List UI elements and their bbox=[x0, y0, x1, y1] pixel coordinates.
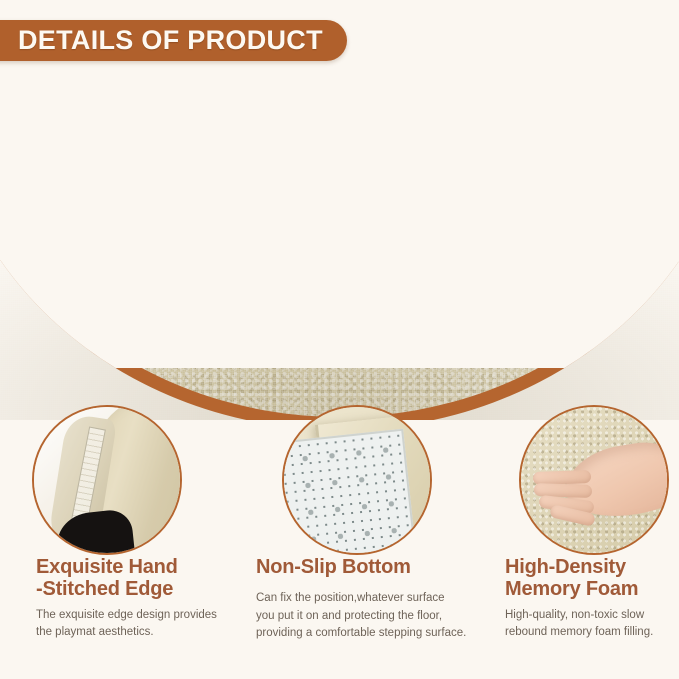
feature-heading-stitched-edge: Exquisite Hand -Stitched Edge bbox=[36, 556, 241, 601]
section-title-banner: DETAILS OF PRODUCT bbox=[0, 20, 347, 61]
body-line-1: Can fix the position,whatever surface bbox=[256, 592, 445, 604]
body-line-2: you put it on and protecting the floor, bbox=[256, 610, 442, 622]
feature-text-columns: Exquisite Hand -Stitched Edge The exquis… bbox=[0, 556, 679, 679]
heading-line-2: Memory Foam bbox=[505, 578, 638, 600]
feature-body-memory-foam: High-quality, non-toxic slow rebound mem… bbox=[505, 607, 679, 642]
hero-product-image bbox=[0, 0, 679, 420]
anti-slip-dots-icon bbox=[282, 431, 416, 555]
body-line-3: providing a comfortable stepping surface… bbox=[256, 627, 466, 639]
feature-body-stitched-edge: The exquisite edge design provides the p… bbox=[36, 607, 241, 642]
non-slip-bottom-icon bbox=[284, 407, 430, 553]
heading-line-2: -Stitched Edge bbox=[36, 578, 173, 600]
feature-photo-non-slip-bottom bbox=[282, 405, 432, 555]
body-line-1: High-quality, non-toxic slow bbox=[505, 609, 644, 621]
feature-block-stitched-edge: Exquisite Hand -Stitched Edge The exquis… bbox=[36, 556, 241, 641]
feature-body-non-slip-bottom: Can fix the position,whatever surface yo… bbox=[256, 590, 481, 642]
body-line-2: the playmat aesthetics. bbox=[36, 626, 154, 638]
feature-heading-non-slip-bottom: Non-Slip Bottom bbox=[256, 556, 481, 578]
feature-photo-memory-foam bbox=[519, 405, 669, 555]
feature-block-memory-foam: High-Density Memory Foam High-quality, n… bbox=[505, 556, 679, 641]
body-line-2: rebound memory foam filling. bbox=[505, 626, 653, 638]
body-line-1: The exquisite edge design provides bbox=[36, 609, 217, 621]
page-title: DETAILS OF PRODUCT bbox=[18, 25, 323, 56]
feature-block-non-slip-bottom: Non-Slip Bottom Can fix the position,wha… bbox=[256, 556, 481, 642]
heading-line-1: High-Density bbox=[505, 556, 626, 578]
hand-on-foam-icon bbox=[521, 407, 667, 553]
product-details-infographic: DETAILS OF PRODUCT bbox=[0, 0, 679, 679]
heading-line-1: Exquisite Hand bbox=[36, 556, 178, 578]
feature-heading-memory-foam: High-Density Memory Foam bbox=[505, 556, 679, 601]
stitched-edge-icon bbox=[34, 407, 180, 553]
heading-line-1: Non-Slip Bottom bbox=[256, 556, 411, 578]
feature-photo-stitched-edge bbox=[32, 405, 182, 555]
